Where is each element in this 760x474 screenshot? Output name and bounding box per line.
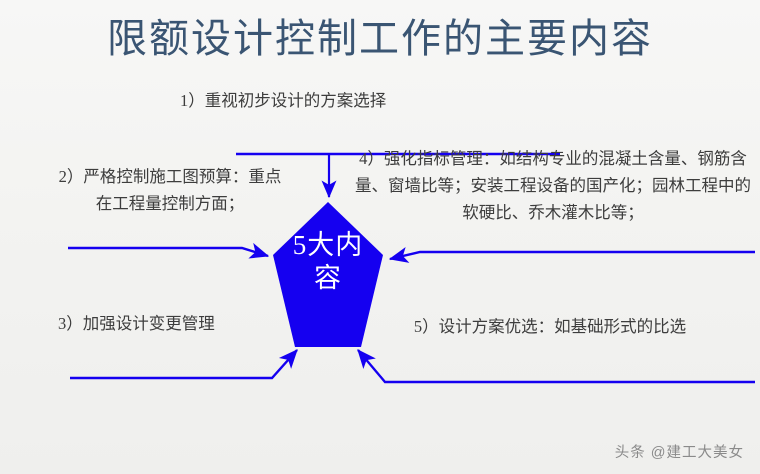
slide-canvas: 限额设计控制工作的主要内容: [0, 0, 760, 474]
connector-left-upper: [68, 248, 268, 256]
connector-right-upper: [390, 252, 755, 259]
connector-right-lower: [358, 350, 755, 382]
content-item-5: 5）设计方案优选：如基础形式的比选: [390, 313, 710, 340]
center-label-line2: 容: [272, 262, 384, 295]
content-item-4: 4）强化指标管理：如结构专业的混凝土含量、钢筋含量、窗墙比等；安装工程设备的国产…: [355, 145, 751, 226]
watermark-label: 头条 @建工大美女: [615, 441, 744, 462]
center-label-line1: 5大内: [272, 229, 384, 262]
content-item-3: 3）加强设计变更管理: [58, 310, 283, 337]
connector-left-lower: [70, 350, 297, 378]
center-pentagon-label: 5大内 容: [272, 229, 384, 295]
content-item-1: 1）重视初步设计的方案选择: [180, 88, 500, 113]
content-item-2: 2）严格控制施工图预算：重点在工程量控制方面；: [55, 163, 285, 217]
page-title: 限额设计控制工作的主要内容: [0, 14, 760, 64]
